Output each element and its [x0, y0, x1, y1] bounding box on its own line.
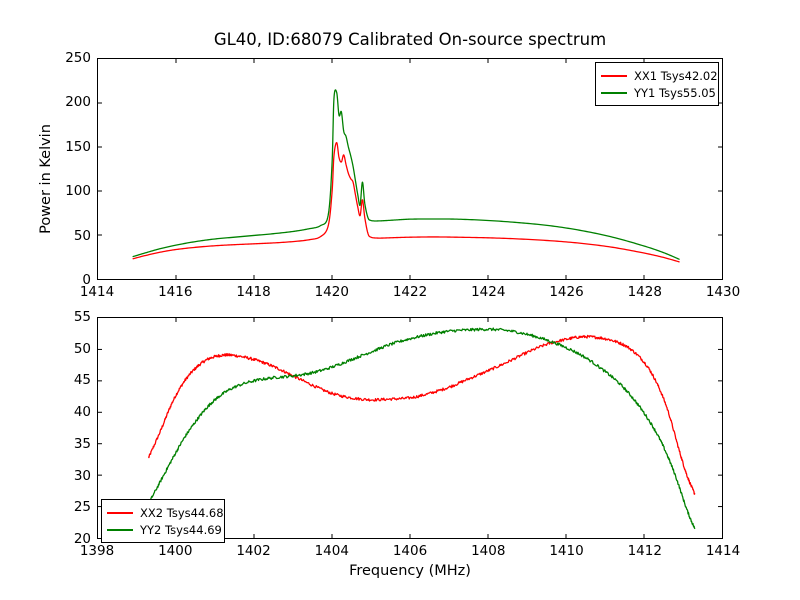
series-line-green	[149, 328, 695, 528]
legend-item: XX2 Tsys44.68	[107, 504, 218, 521]
legend-item: YY2 Tsys44.69	[107, 521, 218, 538]
x-tick-label: 1408	[471, 543, 505, 559]
y-tick-label: 45	[35, 372, 91, 388]
legend-item: YY1 Tsys55.05	[601, 84, 712, 101]
legend-line-swatch-xx2	[107, 512, 133, 514]
matplotlib-figure: GL40, ID:68079 Calibrated On-source spec…	[0, 0, 800, 600]
x-tick-label: 1398	[80, 543, 114, 559]
legend-label-xx2: XX2 Tsys44.68	[140, 506, 224, 520]
legend-label-xx1: XX1 Tsys42.02	[634, 69, 718, 83]
figure-title: GL40, ID:68079 Calibrated On-source spec…	[97, 30, 723, 49]
y-tick-label: 40	[35, 404, 91, 420]
y-tick-label: 30	[35, 468, 91, 484]
x-tick-label: 1402	[236, 543, 270, 559]
x-tick-label: 1412	[628, 543, 662, 559]
x-tick-label: 1410	[549, 543, 583, 559]
y-tick-label: 50	[35, 341, 91, 357]
x-tick-label: 1426	[549, 284, 583, 300]
x-tick-label: 1404	[315, 543, 349, 559]
x-tick-label: 1418	[236, 284, 270, 300]
legend-line-swatch-yy1	[601, 92, 627, 94]
legend-line-swatch-yy2	[107, 529, 133, 531]
x-tick-label: 1430	[706, 284, 740, 300]
series-line-green	[133, 90, 679, 259]
x-tick-label: 1422	[393, 284, 427, 300]
x-tick-label: 1416	[158, 284, 192, 300]
y-tick-label: 55	[35, 309, 91, 325]
x-axis-label: Frequency (MHz)	[97, 563, 723, 579]
x-tick-label: 1420	[315, 284, 349, 300]
x-tick-label: 1428	[628, 284, 662, 300]
top-panel-legend: XX1 Tsys42.02 YY1 Tsys55.05	[595, 62, 719, 106]
y-tick-label: 250	[35, 50, 91, 66]
x-tick-label: 1414	[80, 284, 114, 300]
legend-label-yy1: YY1 Tsys55.05	[634, 86, 716, 100]
x-tick-label: 1424	[471, 284, 505, 300]
x-tick-label: 1406	[393, 543, 427, 559]
series-line-red	[133, 143, 679, 262]
y-axis-label: Power in Kelvin	[38, 89, 54, 269]
y-tick-label: 25	[35, 499, 91, 515]
series-line-red	[149, 335, 695, 494]
x-tick-label: 1414	[706, 543, 740, 559]
legend-line-swatch-xx1	[601, 75, 627, 77]
y-tick-label: 35	[35, 436, 91, 452]
legend-label-yy2: YY2 Tsys44.69	[140, 523, 222, 537]
bottom-panel-legend: XX2 Tsys44.68 YY2 Tsys44.69	[101, 499, 225, 543]
legend-item: XX1 Tsys42.02	[601, 67, 712, 84]
x-tick-label: 1400	[158, 543, 192, 559]
